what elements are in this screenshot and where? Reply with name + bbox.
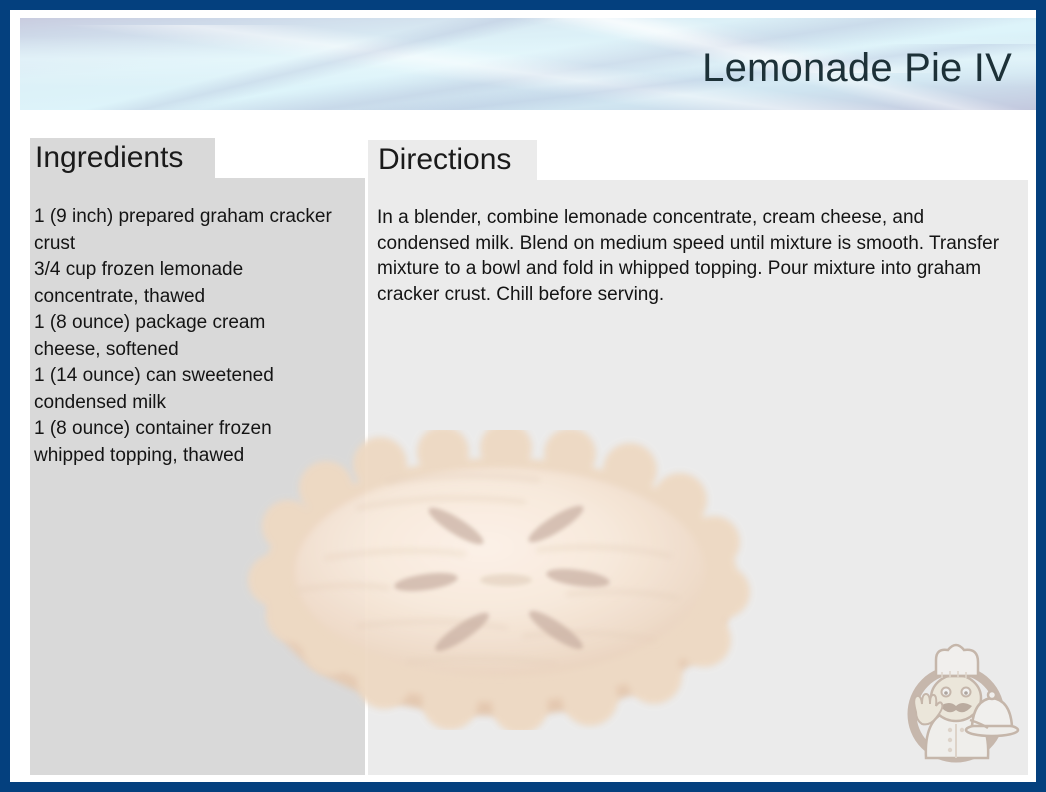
page-title: Lemonade Pie IV <box>702 46 1012 90</box>
chef-mascot-logo <box>892 638 1020 764</box>
list-item: 3/4 cup frozen lemonade concentrate, tha… <box>34 257 334 310</box>
list-item: 1 (8 ounce) container frozen whipped top… <box>34 416 334 469</box>
banner-ribbon-5 <box>20 18 732 110</box>
directions-text: In a blender, combine lemonade concentra… <box>377 205 1012 307</box>
list-item: 1 (8 ounce) package cream cheese, soften… <box>34 310 334 363</box>
list-item: 1 (14 ounce) can sweetened condensed mil… <box>34 363 334 416</box>
ingredients-heading: Ingredients <box>35 141 183 175</box>
directions-heading: Directions <box>378 143 511 177</box>
pie-illustration <box>238 430 758 730</box>
recipe-card: Lemonade Pie IV Ingredients 1 (9 inch) p… <box>0 0 1046 792</box>
list-item: 1 (9 inch) prepared graham cracker crust <box>34 204 334 257</box>
ingredients-list: 1 (9 inch) prepared graham cracker crust… <box>34 204 334 469</box>
